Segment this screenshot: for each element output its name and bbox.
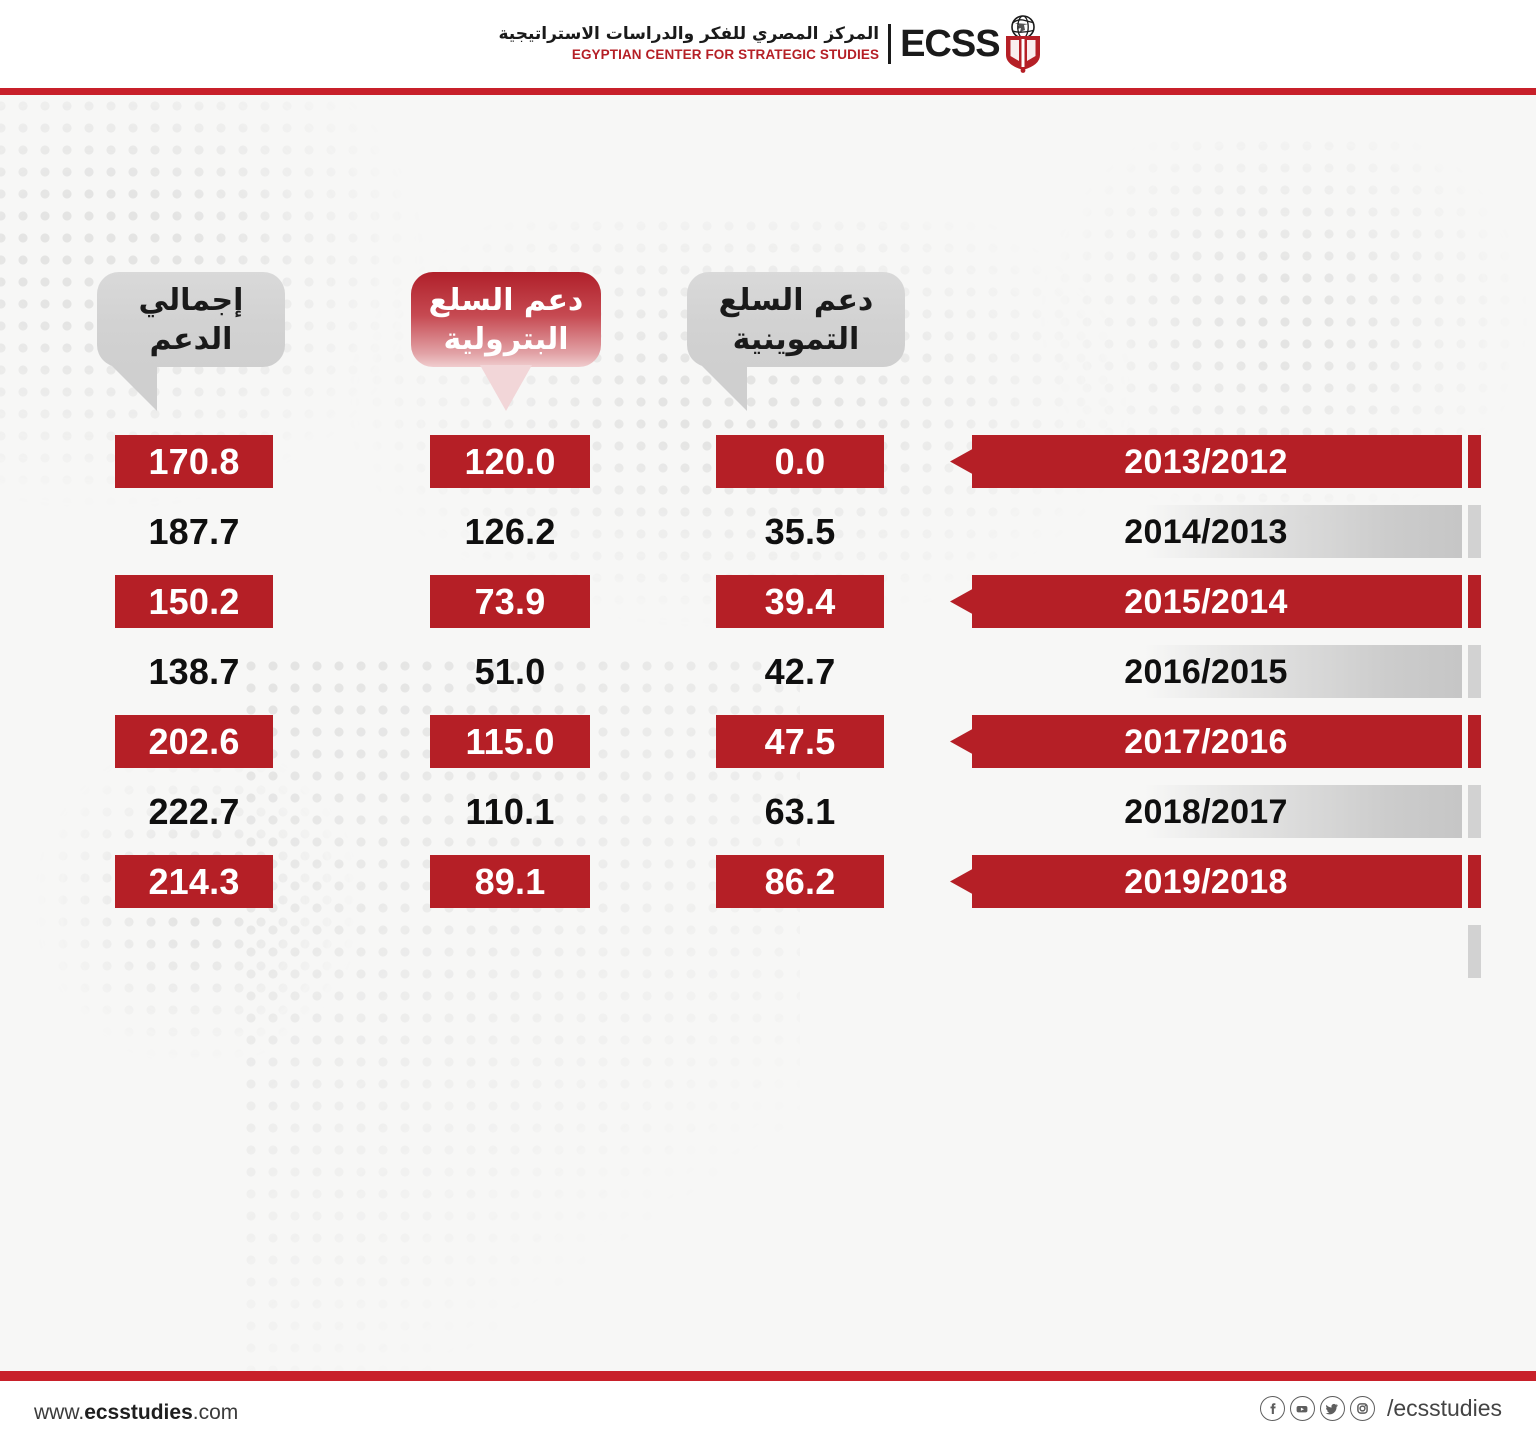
value-cell-petroleum: 110.1 — [430, 785, 590, 838]
logo-name-block: المركز المصري للفكر والدراسات الاستراتيج… — [498, 24, 879, 63]
header-red-rule — [0, 88, 1536, 95]
row-edge-tick — [1468, 505, 1481, 558]
year-bar: 2013/2012 — [950, 435, 1462, 488]
logo-acronym: ECSS — [900, 25, 999, 63]
logo-divider — [888, 24, 891, 64]
year-bar: 2018/2017 — [950, 785, 1462, 838]
row-edge-tick — [1468, 715, 1481, 768]
footer-red-rule — [0, 1371, 1536, 1381]
value-cell-total: 150.2 — [115, 575, 273, 628]
column-header-food-line2: التموينية — [733, 320, 860, 359]
ecss-shield-globe-icon — [1000, 15, 1046, 73]
value-cell-food: 39.4 — [716, 575, 884, 628]
row-edge-tick — [1468, 575, 1481, 628]
header-bar: ECSS المركز المصري للفكر والدراسات الاست… — [0, 0, 1536, 88]
year-bar: 2017/2016 — [950, 715, 1462, 768]
url-domain: ecsstudies — [84, 1401, 193, 1424]
column-header-total: إجمالي الدعم — [97, 272, 285, 367]
year-label: 2018/2017 — [1124, 795, 1287, 829]
value-cell-food: 47.5 — [716, 715, 884, 768]
column-header-total-line1: إجمالي — [139, 281, 244, 320]
value-cell-petroleum: 73.9 — [430, 575, 590, 628]
pill-tail — [701, 365, 747, 411]
twitter-icon[interactable] — [1320, 1396, 1345, 1421]
value-cell-petroleum: 89.1 — [430, 855, 590, 908]
value-cell-food: 0.0 — [716, 435, 884, 488]
value-cell-food: 42.7 — [716, 645, 884, 698]
column-header-food: دعم السلع التموينية — [687, 272, 905, 367]
footer-bar: www.ecsstudies.com /ecsstudies — [0, 1381, 1536, 1449]
column-header-petroleum-line2: البترولية — [443, 320, 568, 359]
website-url[interactable]: www.ecsstudies.com — [34, 1401, 238, 1425]
row-edge-tick — [1468, 645, 1481, 698]
column-header-total-line2: الدعم — [150, 320, 233, 359]
row-edge-tick-trailing — [1468, 925, 1481, 978]
value-cell-total: 138.7 — [115, 645, 273, 698]
row-edge-tick — [1468, 855, 1481, 908]
year-label: 2014/2013 — [1124, 515, 1287, 549]
year-label: 2015/2014 — [1124, 585, 1287, 619]
year-bar: 2016/2015 — [950, 645, 1462, 698]
social-handle[interactable]: /ecsstudies — [1387, 1395, 1502, 1422]
year-bar: 2019/2018 — [950, 855, 1462, 908]
facebook-icon[interactable] — [1260, 1396, 1285, 1421]
column-header-petroleum-line1: دعم السلع — [429, 281, 584, 320]
pill-tail — [111, 365, 157, 411]
youtube-icon[interactable] — [1290, 1396, 1315, 1421]
url-suffix: .com — [193, 1401, 239, 1424]
year-bar: 2015/2014 — [950, 575, 1462, 628]
column-header-food-line1: دعم السلع — [719, 281, 874, 320]
logo-name-arabic: المركز المصري للفكر والدراسات الاستراتيج… — [498, 24, 879, 44]
value-cell-total: 202.6 — [115, 715, 273, 768]
value-cell-petroleum: 126.2 — [430, 505, 590, 558]
value-cell-food: 35.5 — [716, 505, 884, 558]
value-cell-petroleum: 115.0 — [430, 715, 590, 768]
row-edge-tick — [1468, 435, 1481, 488]
value-cell-total: 187.7 — [115, 505, 273, 558]
pill-tail — [480, 365, 532, 411]
year-label: 2016/2015 — [1124, 655, 1287, 689]
value-cell-petroleum: 120.0 — [430, 435, 590, 488]
value-cell-total: 170.8 — [115, 435, 273, 488]
social-links: /ecsstudies — [1260, 1395, 1502, 1422]
instagram-icon[interactable] — [1350, 1396, 1375, 1421]
row-edge-tick — [1468, 785, 1481, 838]
year-bar: 2014/2013 — [950, 505, 1462, 558]
infographic-page: ECSS المركز المصري للفكر والدراسات الاست… — [0, 0, 1536, 1449]
infographic-canvas: إجمالي الدعم دعم السلع البترولية دعم الس… — [0, 95, 1536, 1371]
year-label: 2017/2016 — [1124, 725, 1287, 759]
url-prefix: www. — [34, 1401, 84, 1424]
value-cell-petroleum: 51.0 — [430, 645, 590, 698]
logo-name-english: EGYPTIAN CENTER FOR STRATEGIC STUDIES — [572, 47, 879, 62]
value-cell-total: 222.7 — [115, 785, 273, 838]
year-label: 2013/2012 — [1124, 445, 1287, 479]
value-cell-food: 63.1 — [716, 785, 884, 838]
year-label: 2019/2018 — [1124, 865, 1287, 899]
value-cell-total: 214.3 — [115, 855, 273, 908]
ecss-logo: ECSS المركز المصري للفكر والدراسات الاست… — [498, 15, 1049, 73]
value-cell-food: 86.2 — [716, 855, 884, 908]
column-header-petroleum: دعم السلع البترولية — [411, 272, 601, 367]
